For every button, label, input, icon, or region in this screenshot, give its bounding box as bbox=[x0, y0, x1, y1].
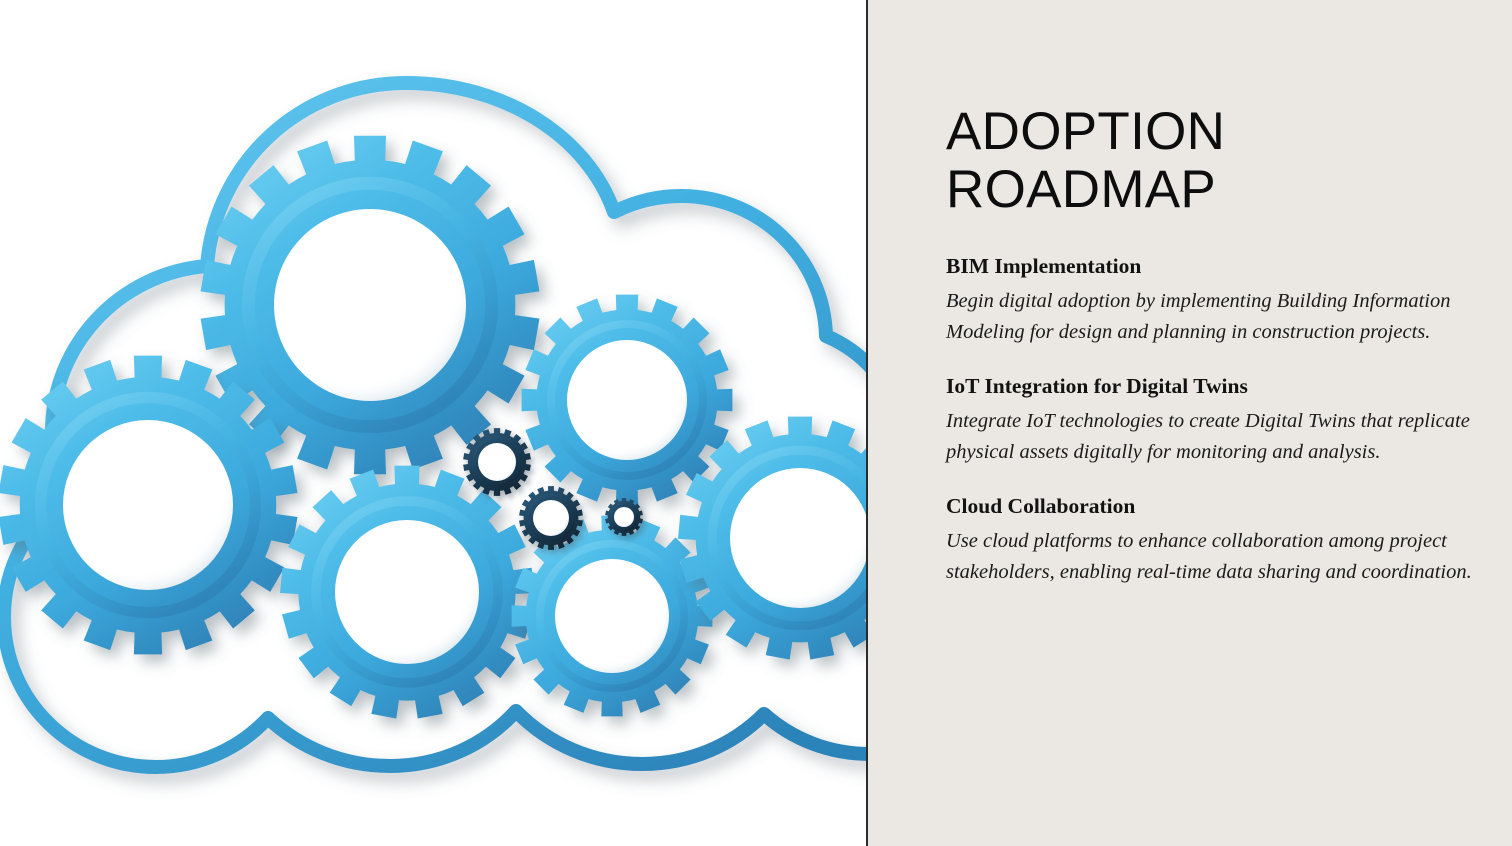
roadmap-section-cloud: Cloud Collaboration Use cloud platforms … bbox=[946, 493, 1492, 587]
page-title: ADOPTIONROADMAP bbox=[946, 103, 1376, 219]
section-heading: IoT Integration for Digital Twins bbox=[946, 373, 1492, 399]
gear-bottom-center-icon bbox=[280, 466, 534, 719]
content-panel: ADOPTIONROADMAP BIM Implementation Begin… bbox=[866, 0, 1512, 846]
gear-left-icon bbox=[0, 356, 298, 655]
roadmap-section-iot: IoT Integration for Digital Twins Integr… bbox=[946, 373, 1492, 467]
gear-small-dark-2-icon bbox=[519, 486, 583, 550]
page-title-line-2: ROADMAP bbox=[946, 160, 1216, 219]
slide-root: ADOPTIONROADMAP BIM Implementation Begin… bbox=[0, 0, 1512, 846]
vertical-divider bbox=[866, 0, 868, 846]
roadmap-section-bim: BIM Implementation Begin digital adoptio… bbox=[946, 253, 1492, 347]
cloud-gears-illustration bbox=[0, 0, 866, 846]
gear-layer bbox=[0, 136, 866, 719]
gear-upper-right-icon bbox=[522, 295, 733, 506]
section-body: Use cloud platforms to enhance collabora… bbox=[946, 526, 1492, 587]
section-heading: Cloud Collaboration bbox=[946, 493, 1492, 519]
section-heading: BIM Implementation bbox=[946, 253, 1492, 279]
gear-small-dark-3-icon bbox=[605, 498, 643, 536]
section-body: Begin digital adoption by implementing B… bbox=[946, 286, 1492, 347]
section-body: Integrate IoT technologies to create Dig… bbox=[946, 406, 1492, 467]
page-title-line-1: ADOPTION bbox=[946, 102, 1225, 161]
gear-small-dark-1-icon bbox=[463, 428, 531, 496]
gear-large-top-icon bbox=[201, 136, 540, 475]
